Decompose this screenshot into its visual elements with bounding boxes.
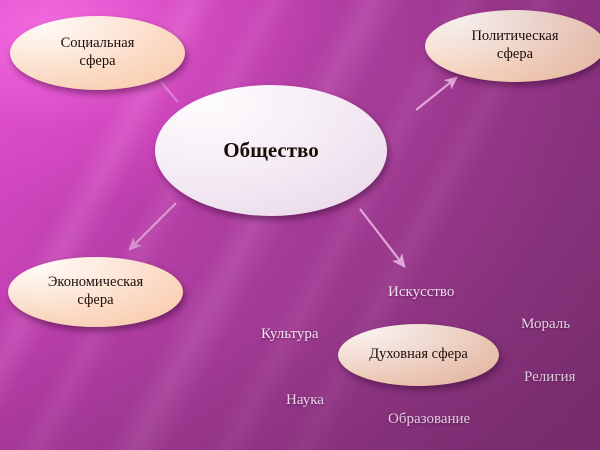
node-political-sphere-label: Политическаясфера [471, 28, 558, 63]
node-society-label: Общество [223, 138, 318, 164]
node-social-sphere[interactable]: Социальнаясфера [10, 16, 185, 90]
node-spiritual-sphere-label: Духовная сфера [369, 346, 468, 364]
node-social-sphere-label: Социальнаясфера [61, 35, 135, 70]
connector-society-to-social [161, 82, 178, 102]
node-political-sphere[interactable]: Политическаясфера [425, 10, 600, 82]
node-economic-sphere[interactable]: Экономическаясфера [8, 257, 183, 327]
slide-canvas: Социальнаясфера Политическаясфера Общест… [0, 0, 600, 450]
node-economic-sphere-label: Экономическаясфера [48, 274, 143, 309]
label-education: Образование [388, 411, 470, 428]
connector-society-to-spiritual [360, 209, 404, 266]
label-science: Наука [286, 392, 324, 409]
label-religion: Религия [524, 369, 575, 386]
node-spiritual-sphere[interactable]: Духовная сфера [338, 324, 499, 386]
label-morality: Мораль [521, 316, 570, 333]
label-culture: Культура [261, 326, 319, 343]
connector-society-to-political [416, 78, 456, 110]
label-art: Искусство [388, 284, 454, 301]
node-society[interactable]: Общество [155, 85, 387, 216]
connector-society-to-economic [130, 203, 176, 249]
